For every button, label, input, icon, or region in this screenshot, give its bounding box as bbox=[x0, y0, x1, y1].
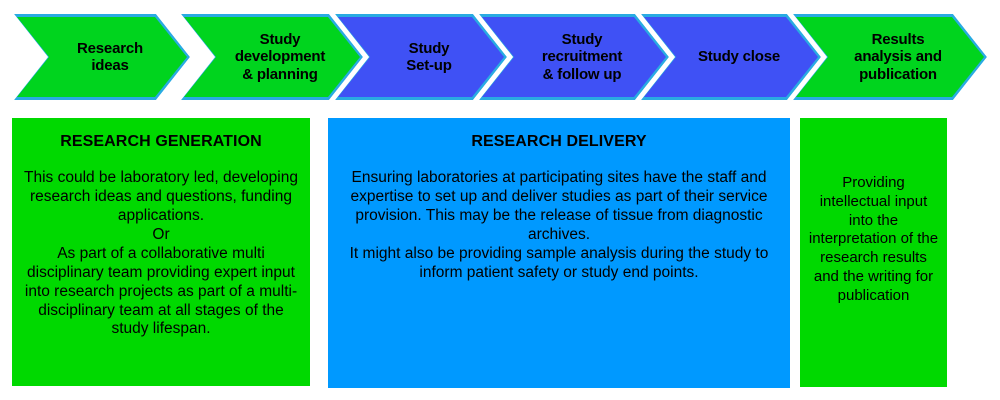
panel-research-generation: RESEARCH GENERATION This could be labora… bbox=[12, 118, 310, 386]
diagram-canvas: Research ideas Study development & plann… bbox=[0, 0, 1000, 400]
panel-body: Providing intellectual input into the in… bbox=[806, 174, 941, 305]
stage-arrow-study-recruitment[interactable]: Study recruitment & follow up bbox=[479, 14, 669, 100]
arrow-fill bbox=[17, 17, 187, 97]
panel-results-contribution: Providing intellectual input into the in… bbox=[800, 118, 947, 387]
process-arrow-row: Research ideas Study development & plann… bbox=[0, 14, 1000, 100]
panel-body: This could be laboratory led, developing… bbox=[18, 169, 304, 339]
arrow-fill bbox=[796, 17, 984, 97]
panel-body: Ensuring laboratories at participating s… bbox=[334, 169, 784, 282]
panel-title: RESEARCH GENERATION bbox=[18, 132, 304, 151]
arrow-fill bbox=[644, 17, 818, 97]
stage-arrow-results-analysis[interactable]: Results analysis and publication bbox=[793, 14, 987, 100]
arrow-fill bbox=[482, 17, 666, 97]
stage-arrow-research-ideas[interactable]: Research ideas bbox=[14, 14, 190, 100]
panel-research-delivery: RESEARCH DELIVERY Ensuring laboratories … bbox=[328, 118, 790, 388]
stage-arrow-study-development[interactable]: Study development & planning bbox=[181, 14, 363, 100]
panel-title: RESEARCH DELIVERY bbox=[334, 132, 784, 151]
arrow-fill bbox=[184, 17, 360, 97]
